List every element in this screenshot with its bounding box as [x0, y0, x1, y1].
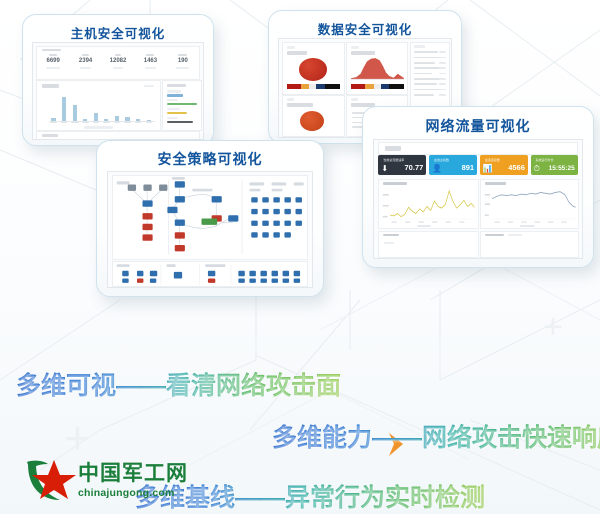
bottom-strip-panel	[112, 261, 308, 287]
tablet-title-security-policy: 安全策略可视化	[97, 149, 323, 169]
tablet-title-data-security: 数据安全可视化	[269, 19, 461, 38]
red-bubble	[299, 58, 327, 80]
slogan-2: 多维能力——网络攻击快速响应	[272, 418, 600, 454]
kpi-card-label: 在线主机数	[434, 158, 449, 162]
legend-panel	[162, 80, 202, 131]
kpi-value: 1463	[134, 58, 166, 64]
kpi-card-label: 会话连接数	[485, 158, 500, 162]
kpi-item: 190	[167, 54, 199, 73]
area-chart	[351, 57, 404, 79]
kpi-card-label: 系统运行时长	[536, 158, 554, 162]
star-logo-icon	[26, 458, 78, 502]
clock-icon: ⏱	[534, 165, 540, 173]
kpi-panel: 6699 2394 12082 1463	[36, 46, 200, 80]
kpi-card-uptime[interactable]: 系统运行时长 ⏱ 15:55:25	[531, 155, 578, 175]
kpi-card-value: 4566	[508, 163, 525, 172]
bar-chart-panel	[36, 80, 161, 131]
orange-bubble	[300, 111, 324, 131]
topology-graph	[113, 176, 307, 259]
traffic-line-chart	[379, 180, 477, 228]
logo-text-cn: 中国军工网	[78, 463, 188, 484]
color-swatch-bar	[351, 84, 404, 89]
kpi-value: 190	[167, 58, 199, 64]
bubble-card-1	[282, 42, 344, 95]
bar-chart-icon: 📊	[483, 165, 493, 173]
kpi-card-label: 当前总流量速率	[383, 158, 404, 162]
kpi-card-value: 15:55:25	[549, 165, 575, 172]
screen-security-policy	[107, 171, 313, 288]
tablet-host-security[interactable]: 主机安全可视化 6699 2394	[22, 14, 214, 146]
kpi-item: 12082	[102, 54, 134, 73]
plus-decoration-left: +	[64, 415, 91, 461]
user-icon: 👤	[432, 165, 442, 173]
kpi-value: 2394	[69, 58, 101, 64]
tablet-network-traffic[interactable]: 网络流量可视化 当前总流量速率 ⬇ 70.77 在线主机数 👤 891 会话连接…	[362, 106, 594, 268]
panel-protocol-distribution	[378, 231, 478, 258]
bottom-node-grid	[113, 262, 307, 286]
download-icon: ⬇	[381, 165, 388, 173]
screen-network-traffic: 当前总流量速率 ⬇ 70.77 在线主机数 👤 891 会话连接数 📊 4566…	[373, 139, 582, 259]
session-line-chart	[481, 180, 578, 228]
bubble-card-2	[282, 95, 344, 137]
toolbar	[378, 142, 577, 155]
poster-canvas: + + 主机安全可视化 6699 2394	[0, 0, 600, 514]
kpi-card-sessions[interactable]: 会话连接数 📊 4566	[480, 155, 528, 175]
color-swatch-bar	[287, 84, 340, 89]
kpi-card-value: 891	[462, 163, 475, 172]
kpi-value: 12082	[102, 58, 134, 64]
kpi-card-value: 70.77	[405, 163, 424, 172]
panel-app-ranking	[480, 231, 579, 258]
kpi-item: 1463	[134, 54, 166, 73]
tablet-title-host-security: 主机安全可视化	[23, 23, 213, 42]
kpi-value: 6699	[37, 58, 69, 64]
area-chart-card	[346, 42, 408, 95]
slogan-1: 多维可视——看清网络攻击面	[16, 366, 341, 402]
tablet-security-policy[interactable]: 安全策略可视化	[96, 140, 324, 297]
topology-panel	[112, 175, 308, 260]
kpi-item: 2394	[69, 54, 101, 73]
chart-session-trend	[480, 179, 579, 229]
tablet-title-network-traffic: 网络流量可视化	[363, 116, 593, 136]
logo-text-en: chinajungong.com	[78, 488, 175, 499]
chart-traffic-trend	[378, 179, 478, 229]
screen-host-security: 6699 2394 12082 1463	[32, 42, 205, 140]
kpi-card-traffic-rate[interactable]: 当前总流量速率 ⬇ 70.77	[378, 155, 426, 175]
kpi-item: 6699	[37, 54, 69, 73]
site-logo[interactable]: 中国军工网 chinajungong.com	[26, 458, 196, 504]
kpi-card-online-hosts[interactable]: 在线主机数 👤 891	[429, 155, 477, 175]
footer-panel	[36, 131, 200, 140]
plus-decoration-right: +	[543, 310, 563, 344]
